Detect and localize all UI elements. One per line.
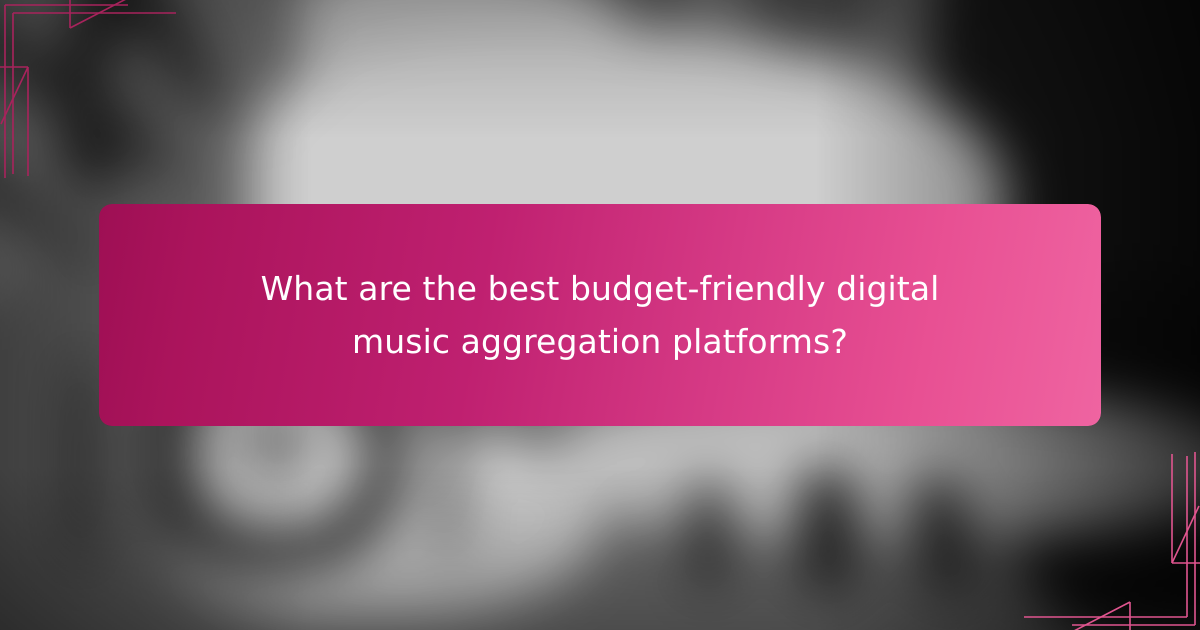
quote-card-graphic: What are the best budget-friendly digita… xyxy=(0,0,1200,630)
quote-text: What are the best budget-friendly digita… xyxy=(250,262,950,369)
quote-card: What are the best budget-friendly digita… xyxy=(99,204,1101,426)
